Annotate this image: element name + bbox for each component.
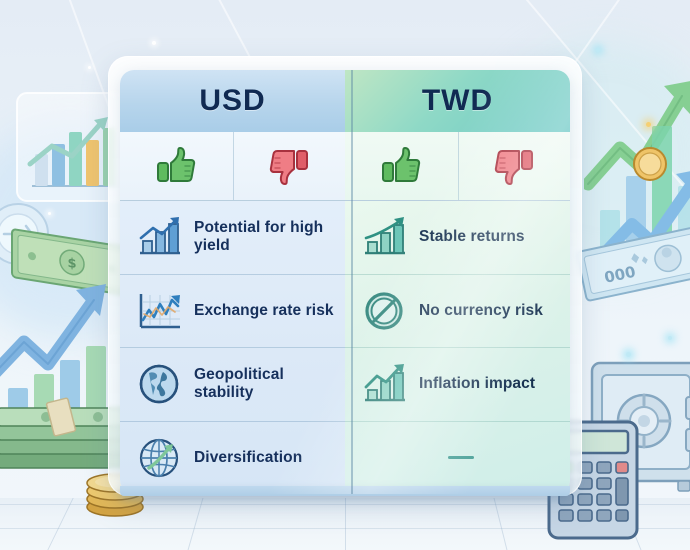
table-row[interactable]: Stable returns (345, 201, 570, 275)
line-chart-volatility-icon (134, 288, 184, 334)
table-cell-text: Potential for high yield (194, 219, 337, 256)
column-usd: Potential for high yield (120, 201, 345, 494)
sparkle-white-2 (88, 66, 91, 69)
table-body: Potential for high yield (120, 201, 570, 494)
bar-chart-rising-arrow-icon (359, 214, 409, 260)
table-footer-band (120, 486, 570, 496)
table-row[interactable]: Geopolitical stability (120, 348, 345, 422)
table-cell-text: Geopolitical stability (194, 366, 337, 403)
column-divider (351, 70, 353, 494)
globe-earth-icon (134, 361, 184, 407)
table-row[interactable]: Inflation impact (345, 348, 570, 422)
thumbs-down-cell-twd[interactable] (458, 132, 571, 200)
sparkle-cyan-1 (626, 352, 631, 357)
dash-icon (359, 456, 562, 459)
bar-chart-rising-arrow-icon (359, 361, 409, 407)
thumbs-up-cell-usd[interactable] (120, 132, 233, 200)
thumbs-down-cell-usd[interactable] (233, 132, 346, 200)
table-cell-text: Exchange rate risk (194, 302, 334, 320)
table-row[interactable]: Exchange rate risk (120, 275, 345, 349)
table-header-row: USD TWD (120, 70, 570, 132)
rating-cell-twd (345, 132, 570, 200)
comparison-table: USD TWD (120, 70, 570, 494)
bar-chart-rising-arrow-icon (134, 214, 184, 260)
sparkle-cyan-2 (668, 336, 672, 340)
rating-row (120, 132, 570, 201)
prohibition-sign-icon (359, 288, 409, 334)
table-cell-text: No currency risk (419, 302, 543, 320)
column-header-usd[interactable]: USD (120, 70, 345, 132)
table-cell-text: Stable returns (419, 228, 525, 246)
globe-wire-arrow-icon (134, 435, 184, 481)
rating-divider-usd (233, 132, 234, 200)
table-row[interactable] (345, 422, 570, 495)
rating-cell-usd (120, 132, 345, 200)
column-header-twd[interactable]: TWD (345, 70, 570, 132)
table-row[interactable]: No currency risk (345, 275, 570, 349)
sparkle-gold (646, 122, 651, 127)
illustration-canvas: $ (0, 0, 690, 550)
table-row[interactable]: Potential for high yield (120, 201, 345, 275)
sparkle-cyan-3 (596, 48, 600, 52)
thumbs-down-icon (268, 146, 310, 186)
table-cell-text: Diversification (194, 449, 302, 467)
sparkle-white-1 (152, 41, 156, 45)
column-header-usd-label: USD (199, 84, 265, 118)
thumbs-up-icon (380, 146, 422, 186)
thumbs-up-cell-twd[interactable] (345, 132, 458, 200)
sparkle-white-3 (48, 212, 51, 215)
thumbs-up-icon (155, 146, 197, 186)
column-twd: Stable returns No currency risk (345, 201, 570, 494)
table-row[interactable]: Diversification (120, 422, 345, 495)
thumbs-down-icon (493, 146, 535, 186)
rating-divider-twd (458, 132, 459, 200)
twd-banknote: 000 (576, 216, 690, 306)
table-cell-text: Inflation impact (419, 375, 535, 393)
column-header-twd-label: TWD (422, 84, 493, 118)
